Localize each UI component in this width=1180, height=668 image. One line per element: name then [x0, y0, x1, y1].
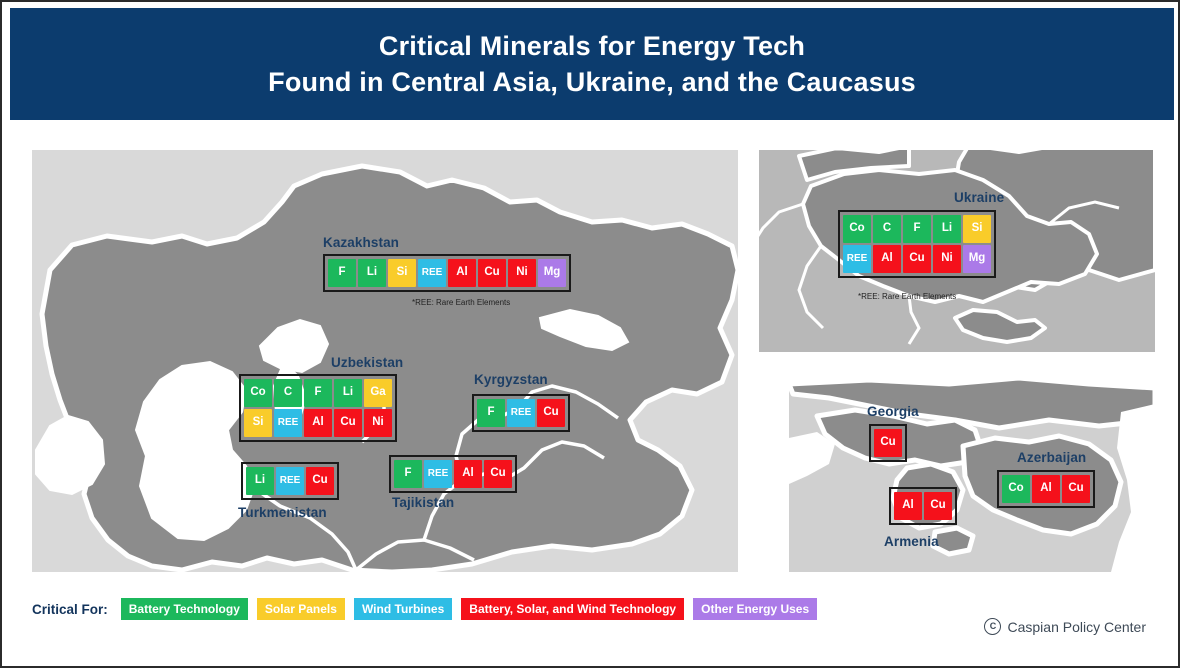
mineral-tile-ree: REE	[276, 467, 304, 495]
legend-item-wind: Wind Turbines	[354, 598, 452, 620]
copyright-icon: C	[984, 618, 1001, 635]
title-line-1: Critical Minerals for Energy Tech	[379, 28, 805, 64]
mineral-row: F REE Al Cu	[394, 460, 512, 488]
mineral-tile-cu: Cu	[334, 409, 362, 437]
title-line-2: Found in Central Asia, Ukraine, and the …	[268, 64, 916, 100]
mineral-tile-mg: Mg	[538, 259, 566, 287]
label-tajikistan: Tajikistan	[392, 495, 454, 510]
mineral-box-ukraine: Co C F Li Si REE Al Cu Ni Mg	[838, 210, 996, 278]
mineral-tile-si: Si	[244, 409, 272, 437]
legend-item-solar: Solar Panels	[257, 598, 345, 620]
mineral-tile-cu: Cu	[924, 492, 952, 520]
infographic-frame: Critical Minerals for Energy Tech Found …	[0, 0, 1180, 668]
mineral-row: Co C F Li Si	[843, 215, 991, 243]
mineral-tile-ni: Ni	[508, 259, 536, 287]
mineral-tile-ree: REE	[424, 460, 452, 488]
organization-name: Caspian Policy Center	[1007, 619, 1146, 635]
mineral-tile-si: Si	[963, 215, 991, 243]
mineral-tile-cu: Cu	[484, 460, 512, 488]
mineral-tile-mg: Mg	[963, 245, 991, 273]
footnote-ree-central: *REE: Rare Earth Elements	[412, 298, 510, 307]
mineral-tile-al: Al	[873, 245, 901, 273]
header-banner: Critical Minerals for Energy Tech Found …	[10, 8, 1174, 120]
mineral-box-armenia: Al Cu	[889, 487, 957, 525]
mineral-tile-ree: REE	[274, 409, 302, 437]
mineral-box-kyrgyzstan: F REE Cu	[472, 394, 570, 432]
mineral-row: F REE Cu	[477, 399, 565, 427]
mineral-box-georgia: Cu	[869, 424, 907, 462]
mineral-tile-cu: Cu	[306, 467, 334, 495]
mineral-box-azerbaijan: Co Al Cu	[997, 470, 1095, 508]
mineral-tile-c: C	[873, 215, 901, 243]
mineral-tile-al: Al	[1032, 475, 1060, 503]
label-ukraine: Ukraine	[954, 190, 1004, 205]
mineral-tile-al: Al	[448, 259, 476, 287]
map-panel-central-asia: Kazakhstan F Li Si REE Al Cu Ni Mg *REE:…	[32, 150, 738, 572]
map-panel-ukraine: Ukraine Co C F Li Si REE Al Cu Ni Mg *RE…	[759, 150, 1155, 352]
mineral-row: Al Cu	[894, 492, 952, 520]
label-kazakhstan: Kazakhstan	[323, 235, 399, 250]
mineral-tile-cu: Cu	[478, 259, 506, 287]
mineral-tile-ree: REE	[843, 245, 871, 273]
legend-title: Critical For:	[32, 602, 108, 617]
mineral-box-uzbekistan: Co C F Li Ga Si REE Al Cu Ni	[239, 374, 397, 442]
mineral-tile-al: Al	[304, 409, 332, 437]
mineral-tile-co: Co	[1002, 475, 1030, 503]
mineral-tile-cu: Cu	[537, 399, 565, 427]
label-turkmenistan: Turkmenistan	[238, 505, 327, 520]
legend-item-battery-solar-wind: Battery, Solar, and Wind Technology	[461, 598, 684, 620]
mineral-tile-cu: Cu	[874, 429, 902, 457]
label-azerbaijan: Azerbaijan	[1017, 450, 1086, 465]
mineral-tile-f: F	[394, 460, 422, 488]
mineral-tile-c: C	[274, 379, 302, 407]
mineral-tile-si: Si	[388, 259, 416, 287]
label-uzbekistan: Uzbekistan	[331, 355, 403, 370]
mineral-tile-ree: REE	[418, 259, 446, 287]
mineral-row: Li REE Cu	[246, 467, 334, 495]
mineral-tile-f: F	[477, 399, 505, 427]
mineral-tile-li: Li	[933, 215, 961, 243]
mineral-box-kazakhstan: F Li Si REE Al Cu Ni Mg	[323, 254, 571, 292]
map-panel-caucasus: Georgia Cu Al Cu Armenia Azerbaijan Co A…	[759, 372, 1155, 572]
mineral-tile-ni: Ni	[364, 409, 392, 437]
footer-attribution: C Caspian Policy Center	[984, 618, 1146, 635]
mineral-tile-co: Co	[843, 215, 871, 243]
mineral-tile-al: Al	[894, 492, 922, 520]
mineral-row: Co Al Cu	[1002, 475, 1090, 503]
mineral-box-tajikistan: F REE Al Cu	[389, 455, 517, 493]
mineral-row: Cu	[874, 429, 902, 457]
mineral-tile-f: F	[328, 259, 356, 287]
footnote-ree-ukraine: *REE: Rare Earth Elements	[858, 292, 956, 301]
mineral-tile-ree: REE	[507, 399, 535, 427]
mineral-tile-al: Al	[454, 460, 482, 488]
mineral-row: F Li Si REE Al Cu Ni Mg	[328, 259, 566, 287]
mineral-row: Co C F Li Ga	[244, 379, 392, 407]
mineral-box-turkmenistan: Li REE Cu	[241, 462, 339, 500]
mineral-tile-li: Li	[358, 259, 386, 287]
label-armenia: Armenia	[884, 534, 939, 549]
mineral-tile-li: Li	[246, 467, 274, 495]
mineral-tile-f: F	[304, 379, 332, 407]
mineral-tile-li: Li	[334, 379, 362, 407]
mineral-row: REE Al Cu Ni Mg	[843, 245, 991, 273]
mineral-tile-f: F	[903, 215, 931, 243]
mineral-tile-cu: Cu	[1062, 475, 1090, 503]
mineral-tile-ni: Ni	[933, 245, 961, 273]
label-georgia: Georgia	[867, 404, 919, 419]
caucasus-map-svg	[759, 372, 1155, 572]
mineral-tile-ga: Ga	[364, 379, 392, 407]
mineral-row: Si REE Al Cu Ni	[244, 409, 392, 437]
mineral-tile-cu: Cu	[903, 245, 931, 273]
legend: Critical For: Battery Technology Solar P…	[32, 594, 912, 624]
legend-item-other: Other Energy Uses	[693, 598, 817, 620]
label-kyrgyzstan: Kyrgyzstan	[474, 372, 548, 387]
mineral-tile-co: Co	[244, 379, 272, 407]
legend-item-battery: Battery Technology	[121, 598, 248, 620]
